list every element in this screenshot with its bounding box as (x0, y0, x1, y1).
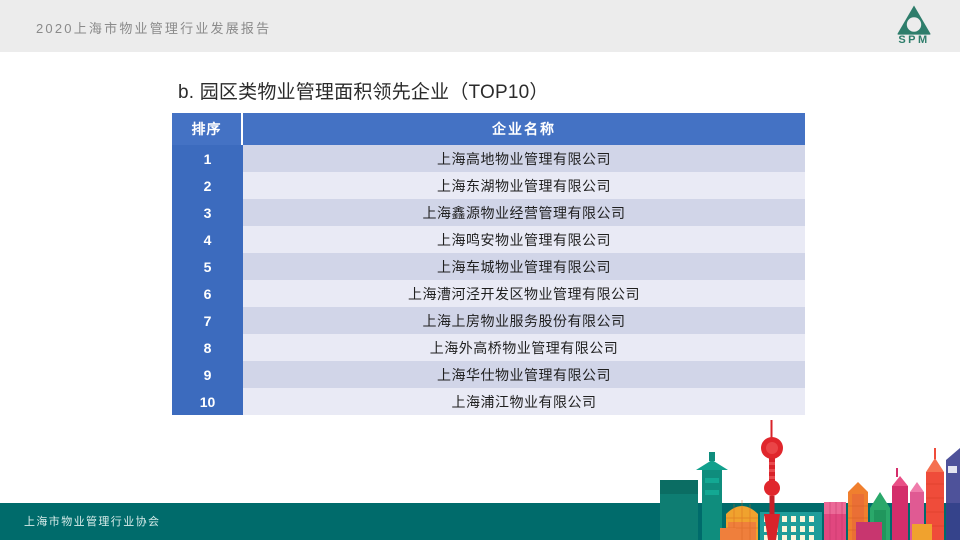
spm-logo: SPM (888, 3, 940, 49)
cell-company-name: 上海上房物业服务股份有限公司 (243, 307, 805, 334)
cell-company-name: 上海鸣安物业管理有限公司 (243, 226, 805, 253)
cell-company-name: 上海鑫源物业经营管理有限公司 (243, 199, 805, 226)
spm-triangle-logo-icon (896, 4, 932, 35)
section-title: b. 园区类物业管理面积领先企业（TOP10） (178, 77, 549, 104)
table-row: 3上海鑫源物业经营管理有限公司 (172, 199, 805, 226)
column-header-company-name: 企业名称 (243, 113, 805, 145)
spm-logo-text: SPM (888, 34, 940, 46)
table-row: 7上海上房物业服务股份有限公司 (172, 307, 805, 334)
cell-rank: 3 (172, 199, 243, 226)
table-row: 4上海鸣安物业管理有限公司 (172, 226, 805, 253)
cell-company-name: 上海高地物业管理有限公司 (243, 145, 805, 172)
cell-company-name: 上海华仕物业管理有限公司 (243, 361, 805, 388)
cell-rank: 8 (172, 334, 243, 361)
table-header: 排序 企业名称 (172, 113, 805, 145)
cell-rank: 2 (172, 172, 243, 199)
table-body: 1上海高地物业管理有限公司2上海东湖物业管理有限公司3上海鑫源物业经营管理有限公… (172, 145, 805, 415)
cell-rank: 4 (172, 226, 243, 253)
table-row: 6上海漕河泾开发区物业管理有限公司 (172, 280, 805, 307)
shanghai-skyline-illustration (660, 418, 960, 540)
cell-rank: 7 (172, 307, 243, 334)
cell-rank: 1 (172, 145, 243, 172)
column-header-rank: 排序 (172, 113, 243, 145)
skyline-buildings (660, 420, 960, 540)
cell-rank: 10 (172, 388, 243, 415)
cell-rank: 9 (172, 361, 243, 388)
cell-company-name: 上海东湖物业管理有限公司 (243, 172, 805, 199)
table-row: 1上海高地物业管理有限公司 (172, 145, 805, 172)
table-row: 5上海车城物业管理有限公司 (172, 253, 805, 280)
cell-company-name: 上海浦江物业有限公司 (243, 388, 805, 415)
table-row: 10上海浦江物业有限公司 (172, 388, 805, 415)
cell-company-name: 上海车城物业管理有限公司 (243, 253, 805, 280)
footer-organization-label: 上海市物业管理行业协会 (24, 513, 160, 529)
cell-rank: 5 (172, 253, 243, 280)
table-row: 9上海华仕物业管理有限公司 (172, 361, 805, 388)
table-header-row: 排序 企业名称 (172, 113, 805, 145)
cell-rank: 6 (172, 280, 243, 307)
ranking-table: 排序 企业名称 1上海高地物业管理有限公司2上海东湖物业管理有限公司3上海鑫源物… (172, 113, 805, 415)
cell-company-name: 上海外高桥物业管理有限公司 (243, 334, 805, 361)
table-row: 8上海外高桥物业管理有限公司 (172, 334, 805, 361)
slide-canvas: 2020上海市物业管理行业发展报告 SPM b. 园区类物业管理面积领先企业（T… (0, 0, 960, 540)
table-row: 2上海东湖物业管理有限公司 (172, 172, 805, 199)
cell-company-name: 上海漕河泾开发区物业管理有限公司 (243, 280, 805, 307)
page-title: 2020上海市物业管理行业发展报告 (36, 18, 271, 37)
